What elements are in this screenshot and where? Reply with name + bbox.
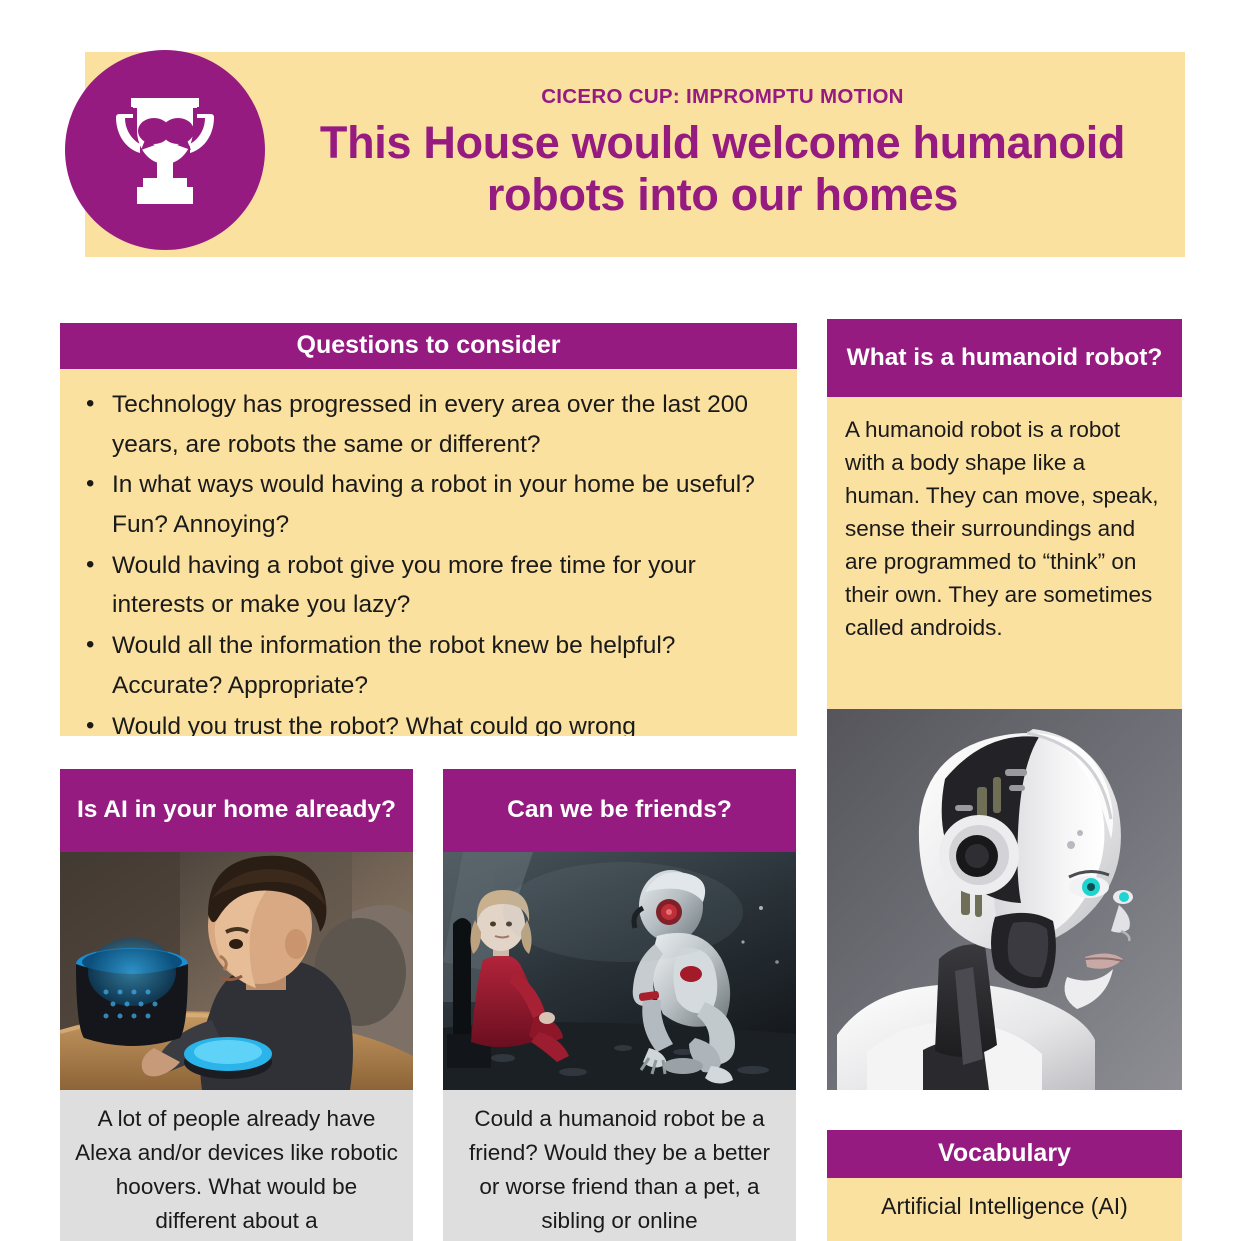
list-item: Would having a robot give you more free … xyxy=(108,546,775,625)
list-item: Technology has progressed in every area … xyxy=(108,385,775,464)
trophy-badge xyxy=(65,50,265,250)
what-is-body: A humanoid robot is a robot with a body … xyxy=(827,397,1182,709)
vocabulary-entry: Artificial Intelligence (AI) xyxy=(839,1192,1170,1222)
what-is-humanoid-robot-panel: What is a humanoid robot? A humanoid rob… xyxy=(827,319,1182,709)
card-ai-at-home: Is AI in your home already? xyxy=(60,769,413,1241)
questions-heading: Questions to consider xyxy=(60,323,797,369)
trophy-icon xyxy=(109,90,221,210)
card-ai-caption: A lot of people already have Alexa and/o… xyxy=(60,1090,413,1241)
vocabulary-heading: Vocabulary xyxy=(827,1130,1182,1178)
card-friends-heading: Can we be friends? xyxy=(443,769,796,852)
list-item: In what ways would having a robot in you… xyxy=(108,465,775,544)
poster-page: CICERO CUP: IMPROMPTU MOTION This House … xyxy=(0,0,1241,1241)
card-friends-caption: Could a humanoid robot be a friend? Woul… xyxy=(443,1090,796,1241)
page-title: This House would welcome humanoid robots… xyxy=(280,117,1165,220)
card-ai-heading: Is AI in your home already? xyxy=(60,769,413,852)
questions-list: Technology has progressed in every area … xyxy=(78,385,775,736)
header-kicker: CICERO CUP: IMPROMPTU MOTION xyxy=(541,85,904,109)
questions-panel: Questions to consider Technology has pro… xyxy=(60,323,797,736)
boy-with-smart-speaker-photo xyxy=(60,852,413,1090)
questions-body: Technology has progressed in every area … xyxy=(60,369,797,736)
vocabulary-body: Artificial Intelligence (AI) xyxy=(827,1178,1182,1241)
girl-and-kneeling-robot-photo xyxy=(443,852,796,1090)
vocabulary-panel: Vocabulary Artificial Intelligence (AI) xyxy=(827,1130,1182,1241)
header-text-block: CICERO CUP: IMPROMPTU MOTION This House … xyxy=(260,52,1185,257)
list-item: Would you trust the robot? What could go… xyxy=(108,707,775,737)
card-can-we-be-friends: Can we be friends? xyxy=(443,769,796,1241)
what-is-heading: What is a humanoid robot? xyxy=(827,319,1182,397)
list-item: Would all the information the robot knew… xyxy=(108,626,775,705)
robot-hero-photo xyxy=(827,709,1182,1090)
